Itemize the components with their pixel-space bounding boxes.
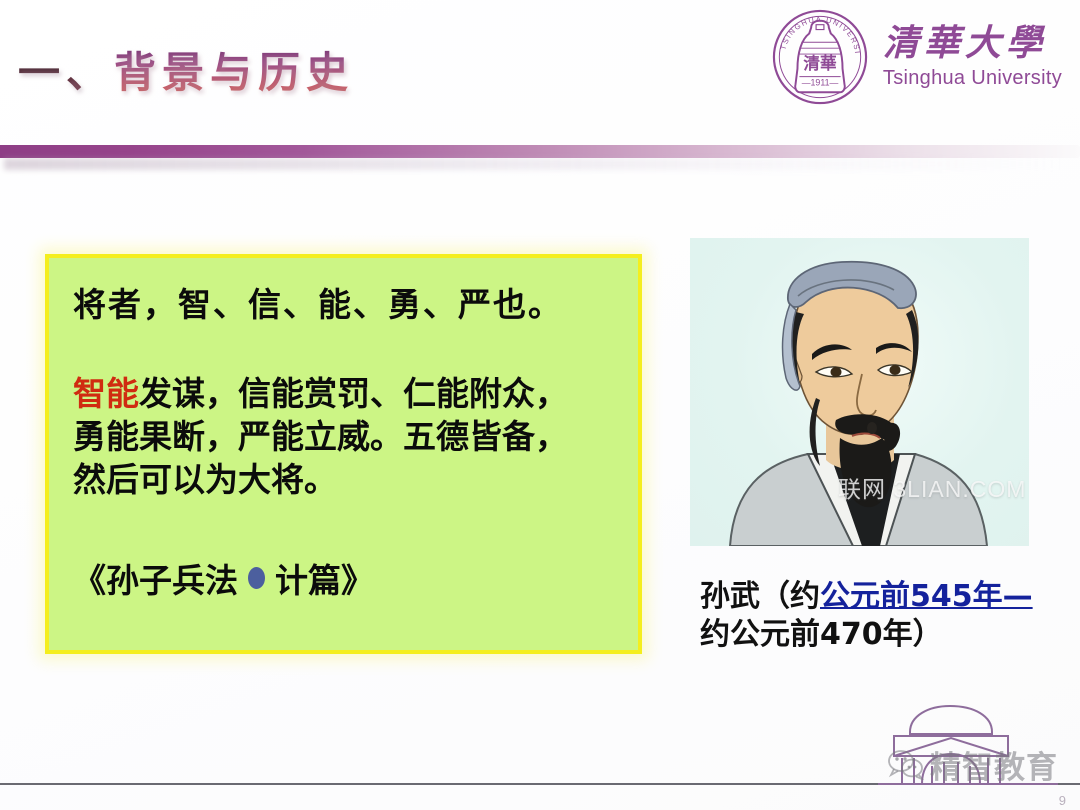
title-divider-shadow <box>4 158 1064 170</box>
quote-source-dot-icon <box>248 567 265 589</box>
page-number: 9 <box>1059 793 1066 808</box>
brand-watermark-text: 精智教育 <box>930 742 1058 787</box>
quote-body-line-3: 然后可以为大将。 <box>73 459 614 502</box>
page-title-main: 背景与历史 <box>114 48 354 97</box>
brand-watermark: 精智教育 <box>888 742 1058 787</box>
title-divider-bar <box>0 145 1080 158</box>
tsinghua-seal-icon: 清華 —1911— TSINGHUA UNIVERSITY <box>771 8 869 106</box>
portrait-caption: 孙武（约公元前545年— 约公元前470年） <box>700 578 1065 655</box>
quote-body-line-1: 智能发谋，信能赏罚、仁能附众， <box>73 373 614 416</box>
tsinghua-wordmark: 清華大學 Tsinghua University <box>883 24 1062 90</box>
quote-body-rest-1: 发谋，信能赏罚、仁能附众， <box>139 374 568 413</box>
quote-line-1: 将者，智、信、能、勇、严也。 <box>73 284 614 327</box>
page-title: 一、背景与历史 <box>18 52 354 94</box>
caption-part-2: 约公元前470年） <box>700 617 943 652</box>
caption-date-link[interactable]: 公元前545年— <box>820 579 1033 614</box>
tsinghua-name-cn: 清華大學 <box>883 24 1047 64</box>
tsinghua-name-en: Tsinghua University <box>883 67 1062 90</box>
wechat-icon <box>888 749 924 780</box>
quote-highlight-term: 智能 <box>73 374 139 413</box>
quote-source-suffix: 计篇》 <box>275 554 374 602</box>
slide-canvas: 一、背景与历史 清華 —1911— TSINGHUA UNIVERSITY 清華… <box>0 0 1080 810</box>
sun-tzu-portrait-image: 联网 3LIAN.COM <box>690 238 1029 546</box>
quote-source-citation: 《孙子兵法 计篇》 <box>73 554 614 602</box>
seal-year-text: —1911— <box>802 77 839 87</box>
quote-source-prefix: 《孙子兵法 <box>73 554 238 602</box>
quote-callout-box: 将者，智、信、能、勇、严也。 智能发谋，信能赏罚、仁能附众， 勇能果断，严能立威… <box>45 254 642 654</box>
svg-text:清華: 清華 <box>803 53 837 73</box>
caption-part-1: 孙武（约 <box>700 579 820 614</box>
page-title-number: 一、 <box>18 48 114 97</box>
portrait-watermark-text: 联网 3LIAN.COM <box>838 470 1026 504</box>
tsinghua-university-logo: 清華 —1911— TSINGHUA UNIVERSITY 清華大學 Tsing… <box>771 8 1062 106</box>
quote-body-line-2: 勇能果断，严能立威。五德皆备， <box>73 416 614 459</box>
